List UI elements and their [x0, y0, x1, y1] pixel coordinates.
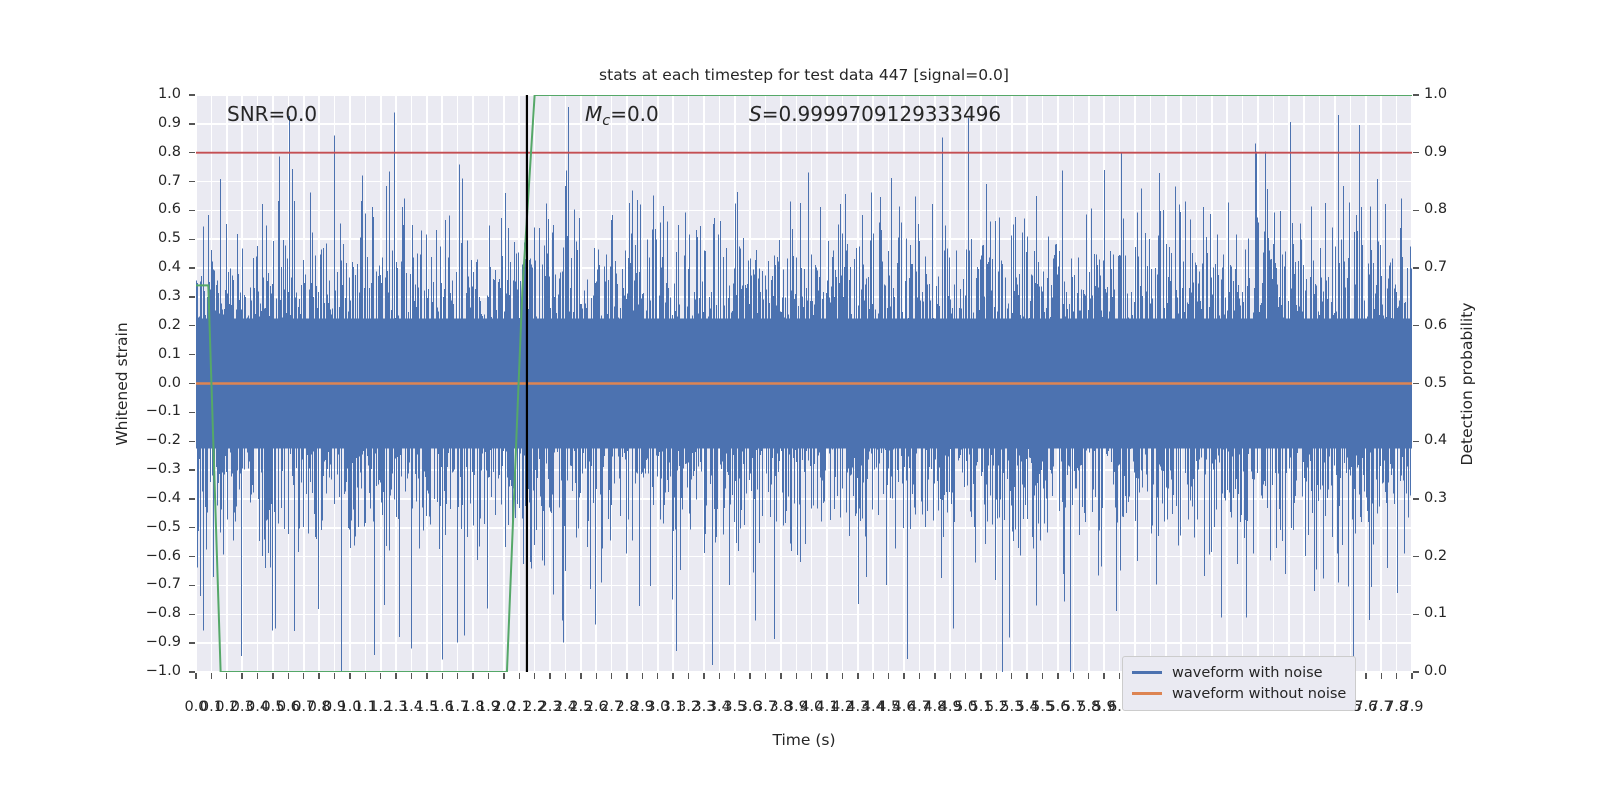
legend-item[interactable]: waveform without noise [1132, 683, 1346, 704]
y-tick-label-left: −1.0 [135, 663, 181, 679]
x-tick-mark [857, 673, 858, 679]
y-tick-label-right: 0.0 [1424, 663, 1470, 679]
x-tick-mark [965, 673, 966, 679]
annotation-s-value: 0.9999709129333496 [778, 102, 1001, 126]
y-tick-label-right: 0.5 [1424, 375, 1470, 391]
x-tick-mark [672, 673, 673, 679]
x-tick-mark [703, 673, 704, 679]
legend-item[interactable]: waveform with noise [1132, 662, 1346, 683]
y-tick-label-left: −0.5 [135, 519, 181, 535]
x-tick-label: 7.9 [1392, 699, 1432, 715]
x-tick-mark [919, 673, 920, 679]
y-axis-label-right: Detection probability [1455, 0, 1479, 800]
annotation-mc-symbol: M [585, 102, 602, 126]
y-tick-mark-left [189, 671, 195, 672]
annotation-mc-value: 0.0 [627, 102, 659, 126]
y-tick-mark-left [189, 469, 195, 470]
y-tick-label-left: −0.3 [135, 461, 181, 477]
x-tick-mark [888, 673, 889, 679]
legend-swatch [1132, 671, 1162, 673]
x-tick-mark [442, 673, 443, 679]
x-tick-mark [1411, 673, 1412, 679]
x-tick-mark [842, 673, 843, 679]
y-tick-label-left: 0.8 [135, 144, 181, 160]
y-tick-label-right: 1.0 [1424, 86, 1470, 102]
y-tick-mark-right [1413, 614, 1419, 615]
x-tick-mark [411, 673, 412, 679]
y-tick-mark-right [1413, 267, 1419, 268]
x-tick-mark [1396, 673, 1397, 679]
x-tick-mark [811, 673, 812, 679]
x-tick-mark [980, 673, 981, 679]
y-tick-mark-left [189, 152, 195, 153]
x-tick-mark [873, 673, 874, 679]
x-tick-mark [426, 673, 427, 679]
y-tick-label-left: 0.5 [135, 230, 181, 246]
x-tick-mark [996, 673, 997, 679]
plot-area: SNR=0.0 Mc=0.0 S=0.9999709129333496 [196, 95, 1412, 672]
y-tick-label-left: 0.7 [135, 173, 181, 189]
chart-title: stats at each timestep for test data 447… [196, 66, 1412, 84]
y-tick-label-left: 1.0 [135, 86, 181, 102]
figure-canvas: stats at each timestep for test data 447… [0, 0, 1600, 800]
x-tick-mark [503, 673, 504, 679]
x-tick-mark [549, 673, 550, 679]
y-tick-label-right: 0.2 [1424, 548, 1470, 564]
y-tick-mark-left [189, 296, 195, 297]
y-tick-mark-left [189, 642, 195, 643]
y-tick-mark-left [189, 498, 195, 499]
y-axis-label-left-text: Whitened strain [113, 322, 131, 445]
x-tick-mark [626, 673, 627, 679]
x-tick-mark [472, 673, 473, 679]
x-tick-mark [657, 673, 658, 679]
y-tick-mark-right [1413, 498, 1419, 499]
y-tick-mark-left [189, 94, 195, 95]
x-tick-mark [1088, 673, 1089, 679]
y-tick-mark-left [189, 383, 195, 384]
y-tick-mark-left [189, 354, 195, 355]
x-tick-mark [457, 673, 458, 679]
y-tick-mark-right [1413, 671, 1419, 672]
y-tick-label-left: 0.4 [135, 259, 181, 275]
y-tick-mark-left [189, 181, 195, 182]
y-tick-label-left: −0.7 [135, 576, 181, 592]
x-tick-mark [765, 673, 766, 679]
annotation-s-symbol: S [749, 102, 762, 126]
y-tick-mark-left [189, 556, 195, 557]
x-tick-mark [688, 673, 689, 679]
y-tick-mark-right [1413, 383, 1419, 384]
y-tick-label-right: 0.7 [1424, 259, 1470, 275]
y-tick-mark-left [189, 527, 195, 528]
x-tick-mark [1119, 673, 1120, 679]
y-tick-mark-left [189, 585, 195, 586]
y-tick-label-right: 0.9 [1424, 144, 1470, 160]
y-tick-mark-left [189, 614, 195, 615]
y-tick-mark-right [1413, 325, 1419, 326]
y-tick-label-left: −0.1 [135, 403, 181, 419]
y-tick-mark-left [189, 412, 195, 413]
y-tick-label-left: 0.1 [135, 346, 181, 362]
y-tick-mark-left [189, 210, 195, 211]
x-tick-mark [596, 673, 597, 679]
y-tick-mark-right [1413, 441, 1419, 442]
y-tick-mark-left [189, 123, 195, 124]
x-tick-mark [534, 673, 535, 679]
x-tick-mark [826, 673, 827, 679]
y-tick-mark-right [1413, 210, 1419, 211]
x-axis-label: Time (s) [196, 731, 1412, 749]
x-tick-mark [226, 673, 227, 679]
annotation-chirp-mass: Mc=0.0 [585, 102, 659, 129]
x-tick-mark [719, 673, 720, 679]
legend-swatch [1132, 692, 1162, 694]
y-tick-mark-right [1413, 152, 1419, 153]
x-tick-mark [1381, 673, 1382, 679]
x-tick-mark [380, 673, 381, 679]
x-tick-mark [580, 673, 581, 679]
x-tick-mark [288, 673, 289, 679]
x-tick-mark [488, 673, 489, 679]
x-tick-mark [950, 673, 951, 679]
x-tick-mark [1011, 673, 1012, 679]
legend-label: waveform without noise [1172, 686, 1346, 702]
x-tick-mark [365, 673, 366, 679]
x-tick-mark [1073, 673, 1074, 679]
y-tick-mark-left [189, 267, 195, 268]
annotation-score: S=0.9999709129333496 [749, 102, 1001, 126]
x-tick-mark [1026, 673, 1027, 679]
annotation-snr-label: SNR= [227, 102, 285, 126]
annotation-snr: SNR=0.0 [227, 102, 317, 126]
x-tick-mark [796, 673, 797, 679]
annotation-s-equals: = [762, 102, 779, 126]
x-tick-mark [211, 673, 212, 679]
x-tick-mark [318, 673, 319, 679]
annotation-mc-equals: = [610, 102, 627, 126]
y-tick-label-left: 0.9 [135, 115, 181, 131]
x-tick-mark [780, 673, 781, 679]
y-tick-mark-right [1413, 94, 1419, 95]
y-tick-label-left: 0.6 [135, 201, 181, 217]
legend: waveform with noisewaveform without nois… [1122, 656, 1356, 711]
annotation-mc-subscript: c [602, 113, 610, 129]
y-tick-label-left: 0.3 [135, 288, 181, 304]
y-tick-label-right: 0.6 [1424, 317, 1470, 333]
x-tick-mark [395, 673, 396, 679]
x-tick-mark [195, 673, 196, 679]
x-tick-mark [903, 673, 904, 679]
y-tick-mark-left [189, 325, 195, 326]
x-tick-mark [1042, 673, 1043, 679]
x-tick-mark [749, 673, 750, 679]
y-tick-label-right: 0.1 [1424, 605, 1470, 621]
y-tick-label-left: −0.4 [135, 490, 181, 506]
x-tick-mark [519, 673, 520, 679]
y-tick-label-left: −0.6 [135, 548, 181, 564]
x-tick-mark [734, 673, 735, 679]
x-tick-mark [334, 673, 335, 679]
x-tick-mark [565, 673, 566, 679]
x-tick-mark [611, 673, 612, 679]
x-tick-mark [1103, 673, 1104, 679]
y-tick-label-left: 0.0 [135, 375, 181, 391]
y-tick-label-right: 0.8 [1424, 201, 1470, 217]
legend-label: waveform with noise [1172, 665, 1323, 681]
series-layer [196, 95, 1412, 672]
x-tick-mark [272, 673, 273, 679]
x-tick-mark [1057, 673, 1058, 679]
y-tick-mark-left [189, 441, 195, 442]
x-tick-mark [241, 673, 242, 679]
y-tick-label-left: 0.2 [135, 317, 181, 333]
x-tick-mark [934, 673, 935, 679]
x-tick-mark [642, 673, 643, 679]
annotation-snr-value: 0.0 [285, 102, 317, 126]
x-tick-mark [257, 673, 258, 679]
y-tick-label-right: 0.3 [1424, 490, 1470, 506]
y-tick-label-left: −0.2 [135, 432, 181, 448]
y-tick-mark-left [189, 239, 195, 240]
y-tick-label-right: 0.4 [1424, 432, 1470, 448]
x-tick-mark [1365, 673, 1366, 679]
x-tick-mark [349, 673, 350, 679]
y-axis-label-left: Whitened strain [110, 0, 134, 800]
y-tick-mark-right [1413, 556, 1419, 557]
y-tick-label-left: −0.8 [135, 605, 181, 621]
y-tick-label-left: −0.9 [135, 634, 181, 650]
x-tick-mark [303, 673, 304, 679]
series-waveform-with-noise [197, 107, 1412, 672]
